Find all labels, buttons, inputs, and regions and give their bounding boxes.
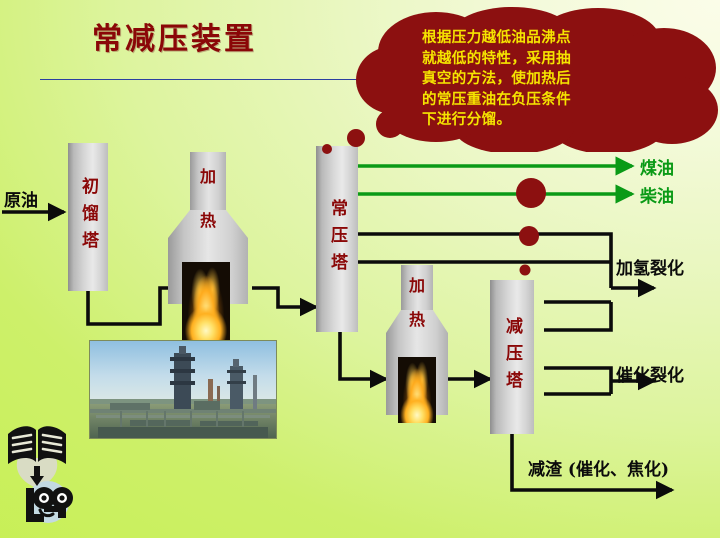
vacuum-tower[interactable]: 减压塔 — [490, 280, 534, 434]
thought-bubble-text: 根据压力越低油品沸点 就越低的特性，采用抽 真空的方法，使加热后 的常压重油在负… — [422, 28, 698, 131]
furnace-2[interactable]: 加 热 — [382, 265, 452, 415]
refinery-photo — [89, 340, 277, 439]
product-label-diesel: 柴油 — [640, 182, 674, 207]
bubble-line-4: 的常压重油在负压条件 — [422, 90, 698, 111]
bubble-line-3: 真空的方法，使加热后 — [422, 69, 698, 90]
thought-bubble: 根据压力越低油品沸点 就越低的特性，采用抽 真空的方法，使加热后 的常压重油在负… — [316, 6, 720, 152]
feed-label-crude-oil: 原油 — [4, 186, 38, 211]
atmospheric-tower-label: 常压塔 — [322, 199, 352, 280]
primary-tower[interactable]: 初馏塔 — [68, 143, 108, 291]
atmospheric-tower[interactable]: 常压塔 — [316, 146, 358, 332]
furnace-2-flame — [398, 357, 436, 423]
furnace-2-label-2: 热 — [382, 307, 452, 332]
product-label-kerosene: 煤油 — [640, 154, 674, 179]
furnace-1-flame — [182, 262, 230, 340]
slide-canvas: 常减压装置 — [0, 0, 720, 538]
product-label-vacuum-residue: 减渣 (催化、焦化) — [528, 455, 669, 480]
furnace-2-label-1: 加 — [382, 273, 452, 298]
furnace-1-label-2: 热 — [162, 208, 254, 233]
bubble-line-2: 就越低的特性，采用抽 — [422, 49, 698, 70]
bubble-line-5: 下进行分馏。 — [422, 110, 698, 131]
product-label-hydrocracking: 加氢裂化 — [616, 254, 684, 279]
furnace-1-label-1: 加 — [162, 164, 254, 189]
furnace-1[interactable]: 加 热 — [162, 152, 254, 304]
vacuum-tower-label: 减压塔 — [497, 317, 527, 398]
product-label-catalytic-cracking: 催化裂化 — [616, 361, 684, 386]
primary-tower-label: 初馏塔 — [73, 177, 103, 258]
reading-person-icon — [4, 414, 90, 526]
bubble-line-1: 根据压力越低油品沸点 — [422, 28, 698, 49]
